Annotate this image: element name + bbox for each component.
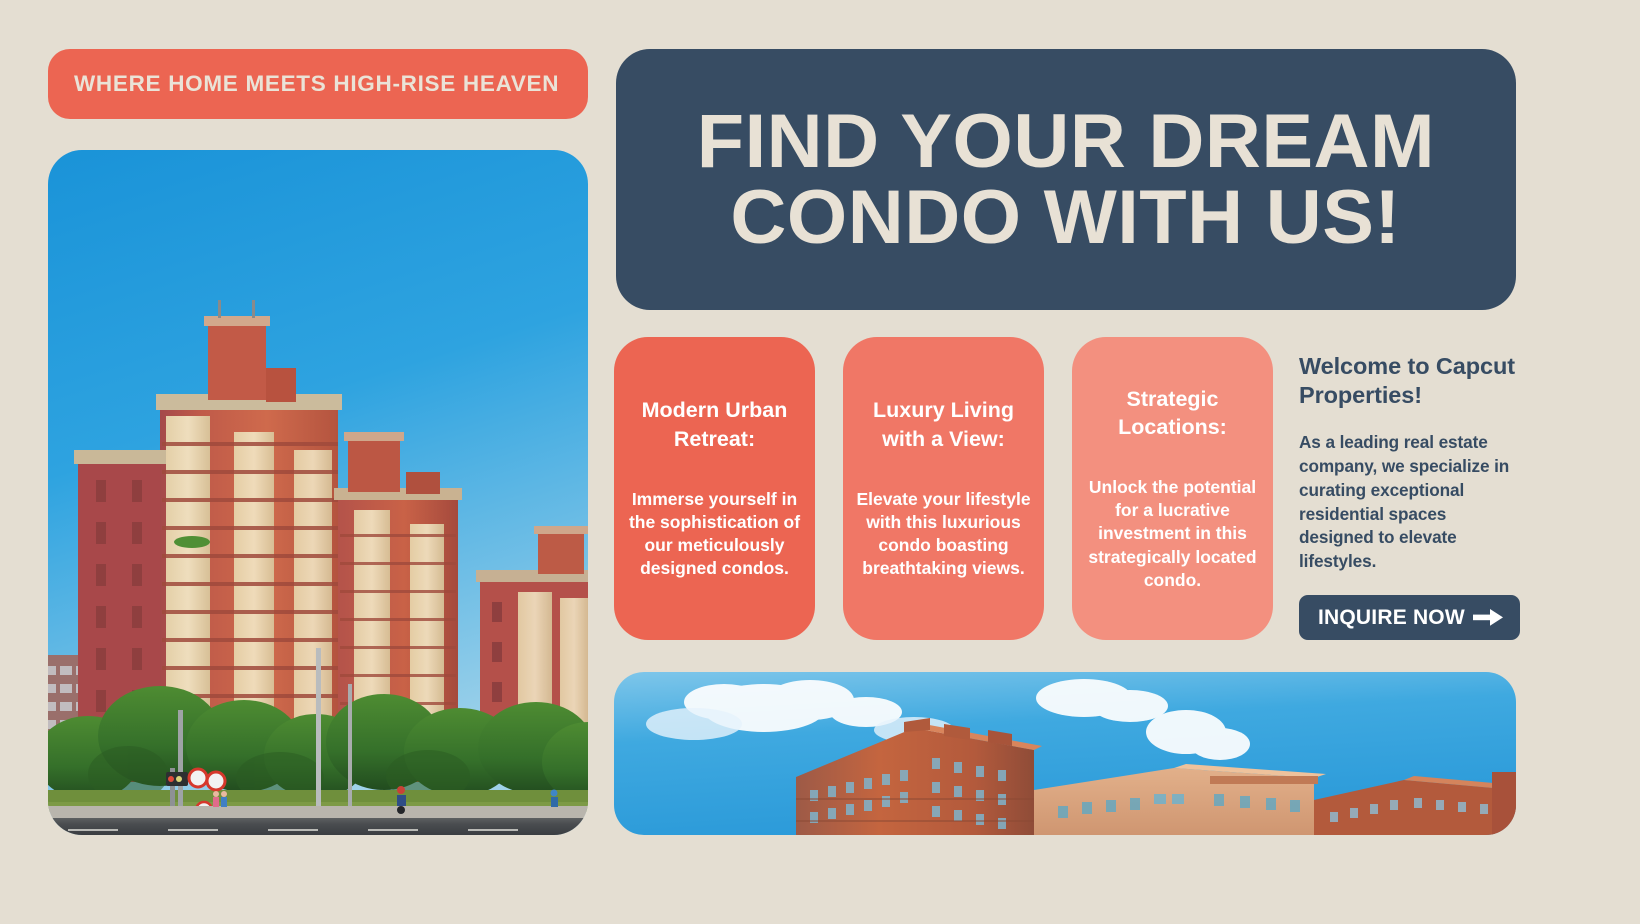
welcome-section: Welcome to Capcut Properties! As a leadi… [1299,352,1525,574]
feature-card-modern-urban-retreat[interactable]: Modern Urban Retreat: Immerse yourself i… [614,337,815,640]
feature-card-luxury-living-with-a-view[interactable]: Luxury Living with a View: Elevate your … [843,337,1044,640]
strip-photo-illustration [614,672,1516,835]
feature-cards-row: Modern Urban Retreat: Immerse yourself i… [614,337,1274,640]
feature-card-body: Elevate your lifestyle with this luxurio… [855,488,1032,581]
feature-card-title: Modern Urban Retreat: [626,396,803,453]
strip-photo [614,672,1516,835]
poster-canvas: WHERE HOME MEETS HIGH-RISE HEAVEN [0,0,1640,924]
feature-card-body: Immerse yourself in the sophistication o… [626,488,803,581]
feature-card-title: Luxury Living with a View: [855,396,1032,453]
arrow-right-icon [1473,609,1503,626]
feature-card-title: Strategic Locations: [1084,385,1261,442]
feature-card-strategic-locations[interactable]: Strategic Locations: Unlock the potentia… [1072,337,1273,640]
tagline-pill: WHERE HOME MEETS HIGH-RISE HEAVEN [48,49,588,119]
headline-line-2: CONDO WITH US! [731,180,1401,255]
headline-line-1: FIND YOUR DREAM [697,104,1435,179]
inquire-now-label: INQUIRE NOW [1318,606,1465,630]
feature-card-body: Unlock the potential for a lucrative inv… [1084,476,1261,592]
welcome-heading: Welcome to Capcut Properties! [1299,352,1525,409]
headline-panel: FIND YOUR DREAM CONDO WITH US! [616,49,1516,310]
hero-photo-illustration [48,150,588,835]
hero-photo [48,150,588,835]
tagline-text: WHERE HOME MEETS HIGH-RISE HEAVEN [74,71,559,97]
inquire-now-button[interactable]: INQUIRE NOW [1299,595,1520,640]
welcome-body: As a leading real estate company, we spe… [1299,431,1525,573]
